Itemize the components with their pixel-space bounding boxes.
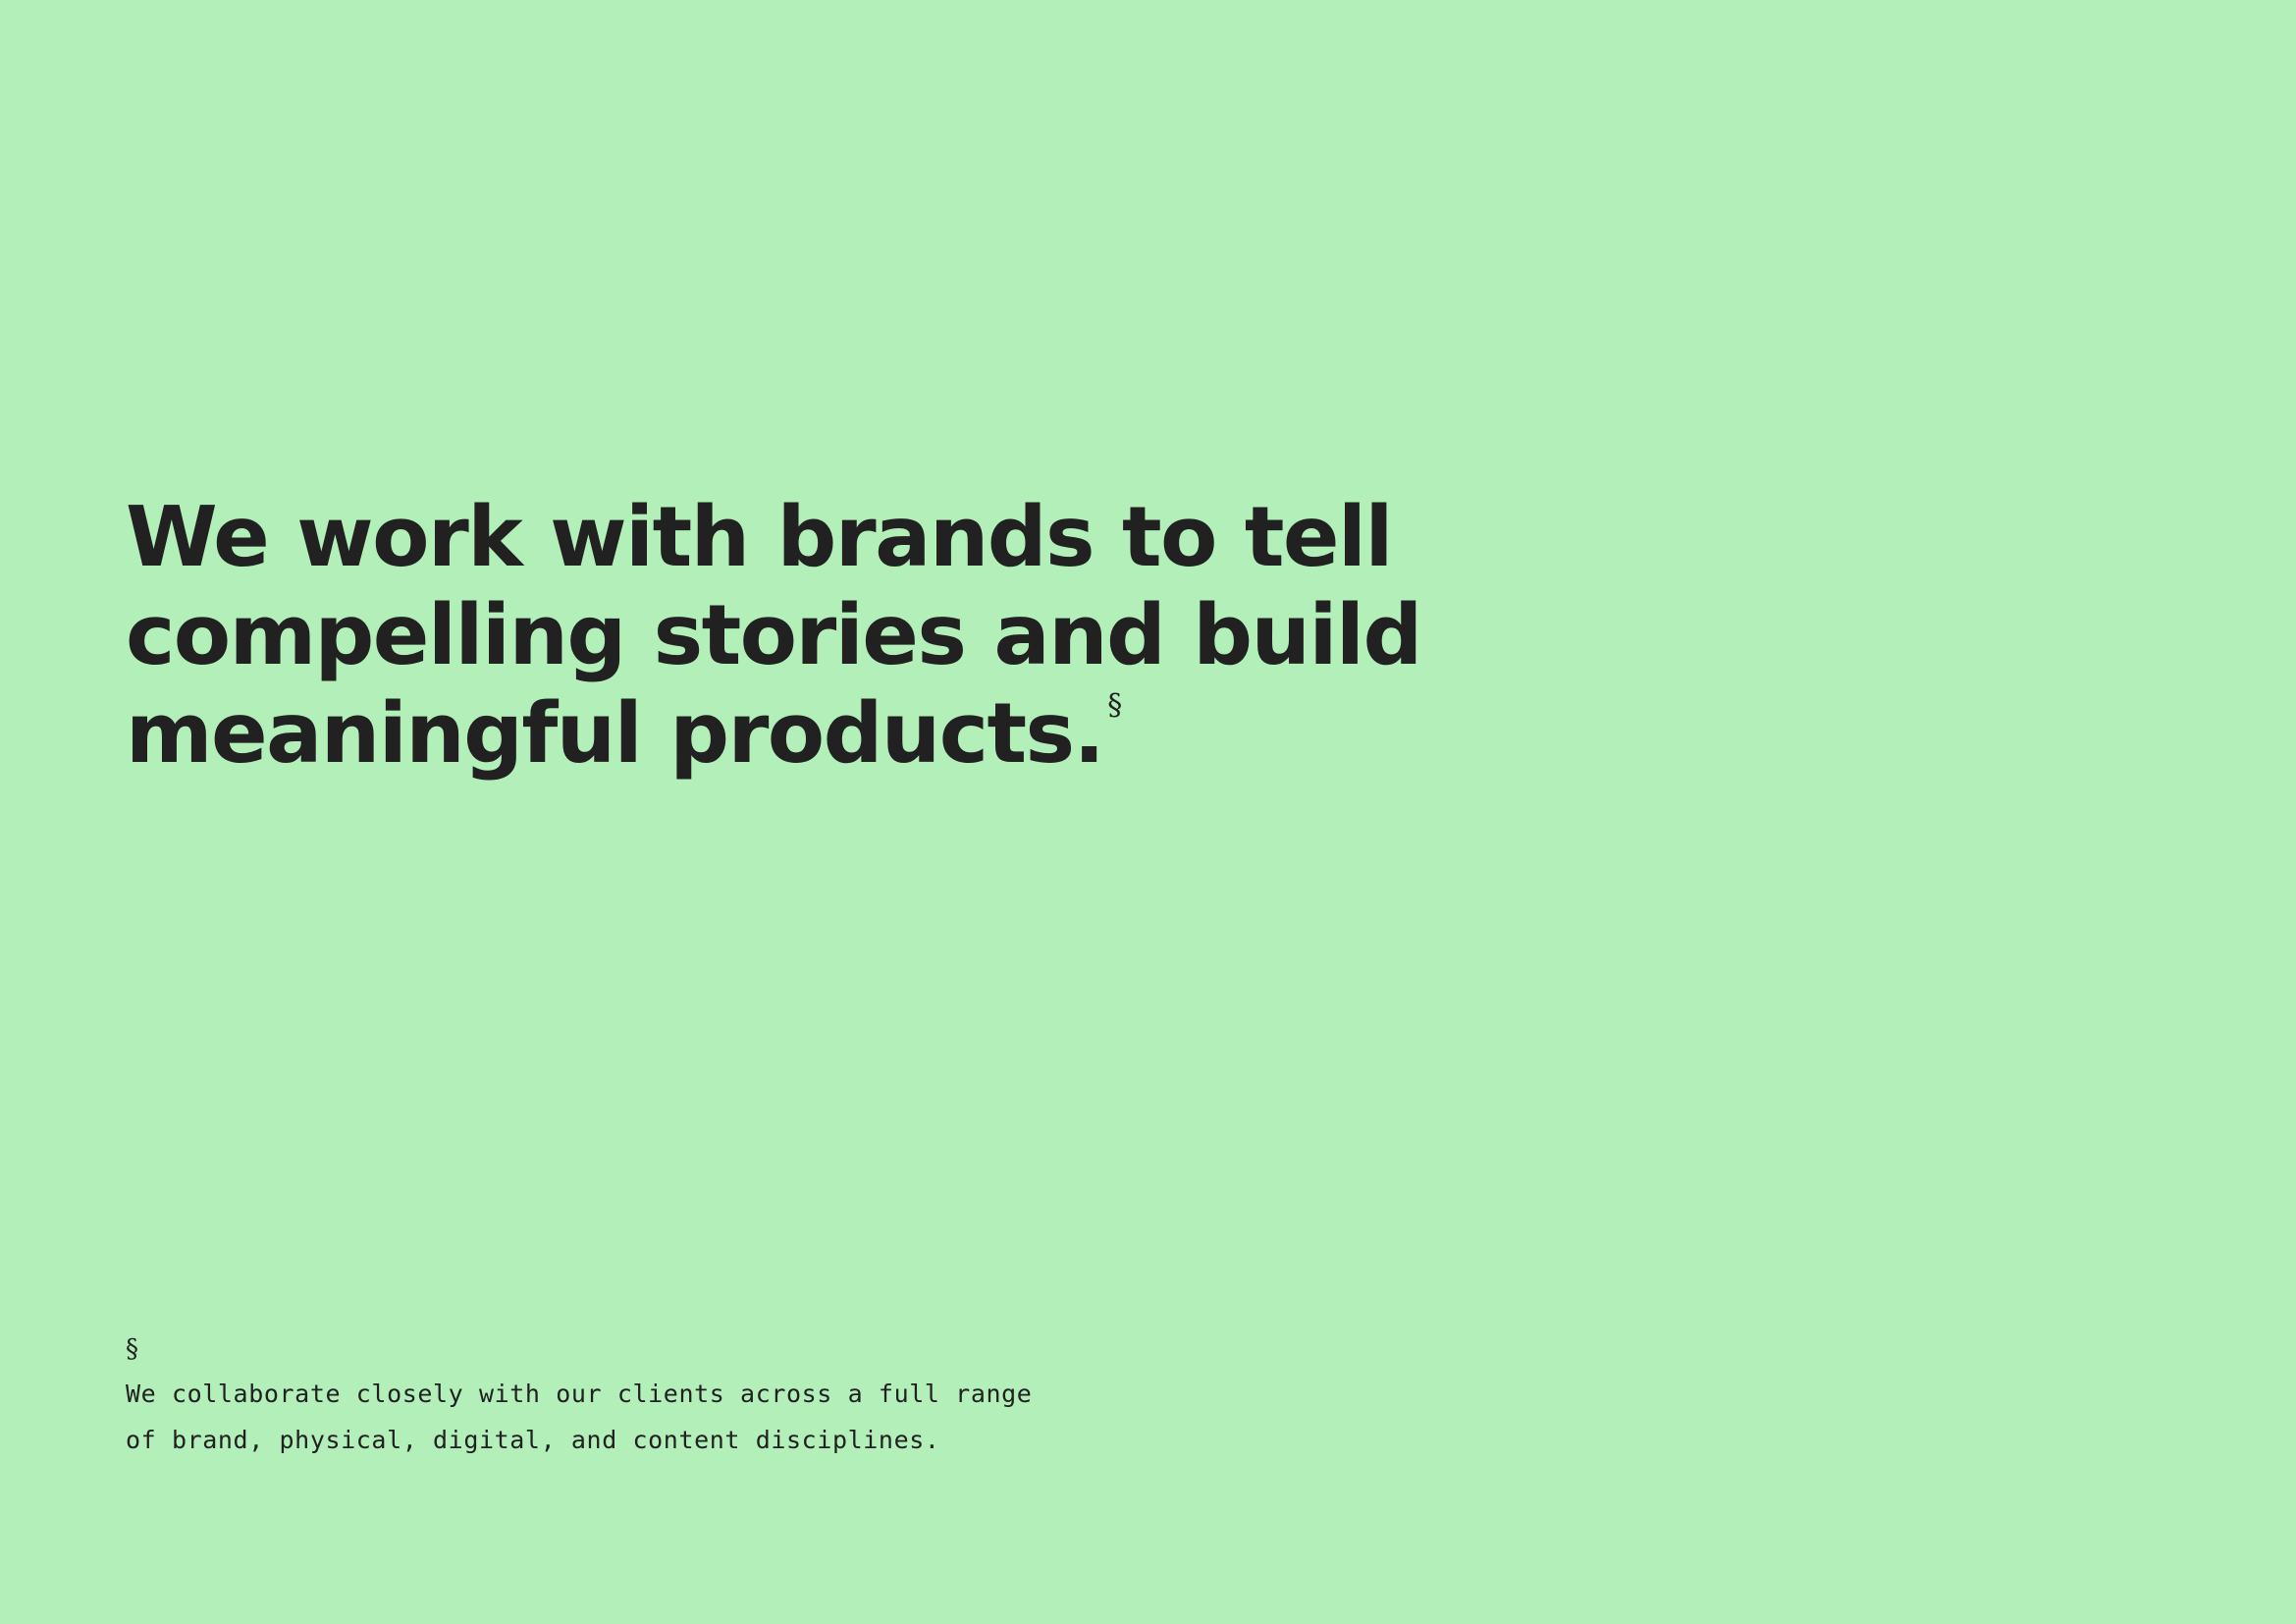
headline-line-1: We work with brands to tell [126, 489, 1598, 587]
page-canvas: We work with brands to tell compelling s… [0, 0, 2296, 1624]
footnote-block: § We collaborate closely with our client… [126, 1327, 1032, 1463]
headline-line-3-wrap: meaningful products.§ [126, 685, 1598, 784]
page-headline: We work with brands to tell compelling s… [126, 489, 1598, 784]
section-sign-superscript-icon: § [1107, 688, 1122, 723]
headline-line-2: compelling stories and build [126, 587, 1598, 685]
footnote-line-1: We collaborate closely with our clients … [126, 1371, 1032, 1417]
footnote-line-2: of brand, physical, digital, and content… [126, 1417, 1032, 1463]
footnote-section-sign-icon: § [126, 1327, 1032, 1371]
headline-line-3: meaningful products. [126, 685, 1103, 783]
